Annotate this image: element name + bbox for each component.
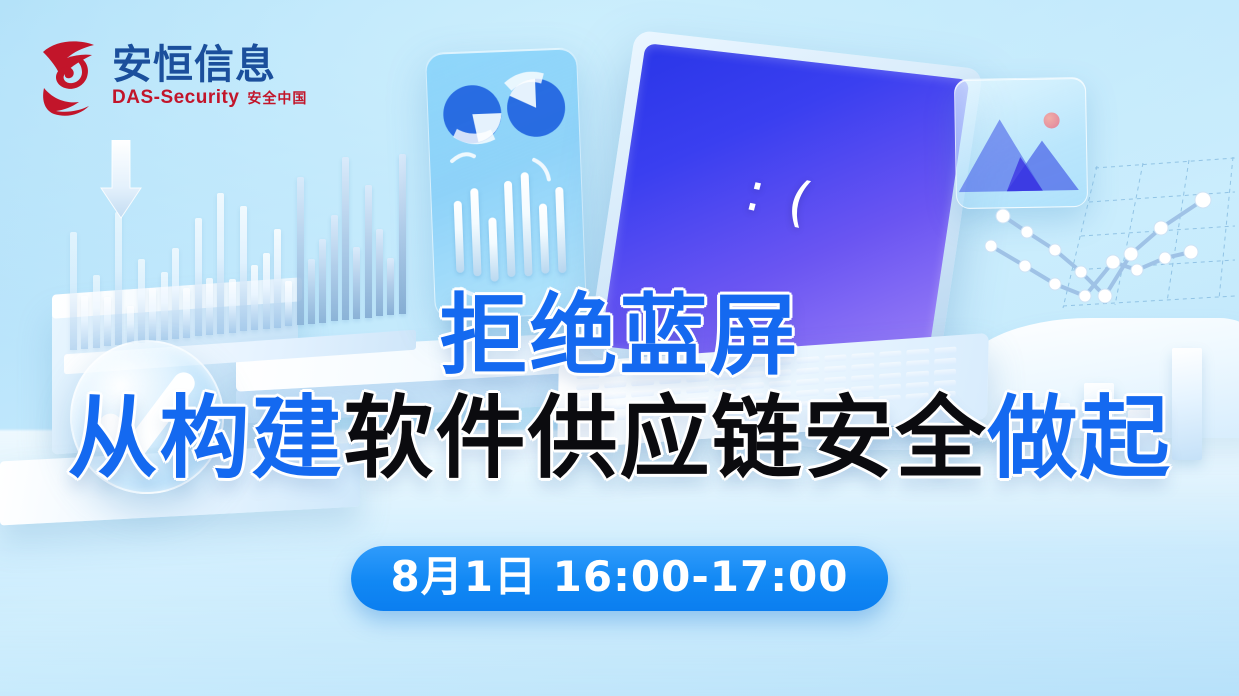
headline-line-2-part-2: 软件供应链安全 [344, 386, 988, 491]
down-arrow-icon [98, 140, 144, 220]
brand-logo[interactable]: 安恒信息 DAS-Security 安全中国 [34, 36, 307, 118]
schedule-pill[interactable]: 8月1日 16:00-17:00 [351, 546, 889, 611]
headline-line-2-part-3: 做起 [988, 386, 1172, 491]
brand-name-cn: 安恒信息 [112, 45, 307, 85]
headline-line-2-part-1: 从构建 [68, 386, 344, 491]
glass-analytics-card [425, 47, 587, 320]
bsod-sad-face: : ( [740, 159, 822, 235]
bar-chart-bar [399, 154, 406, 314]
promo-banner: : ( [0, 0, 1239, 696]
schedule-text: 8月1日 16:00-17:00 [391, 556, 849, 598]
phoenix-swirl-mark-icon [34, 36, 100, 118]
brand-name-en: DAS-Security [112, 87, 239, 109]
headline-block: 拒绝蓝屏 从构建软件供应链安全做起 [0, 292, 1239, 484]
brand-wordmark: 安恒信息 DAS-Security 安全中国 [112, 45, 307, 109]
brand-tagline: 安全中国 [247, 88, 307, 108]
brand-subline: DAS-Security 安全中国 [112, 87, 307, 109]
headline-line-2: 从构建软件供应链安全做起 [0, 394, 1239, 484]
line-series-upper [1003, 200, 1203, 296]
line-chart-grid [1063, 157, 1235, 308]
pie-chart-left [442, 84, 502, 145]
pie-chart-right [504, 70, 566, 137]
headline-line-1: 拒绝蓝屏 [0, 292, 1239, 380]
